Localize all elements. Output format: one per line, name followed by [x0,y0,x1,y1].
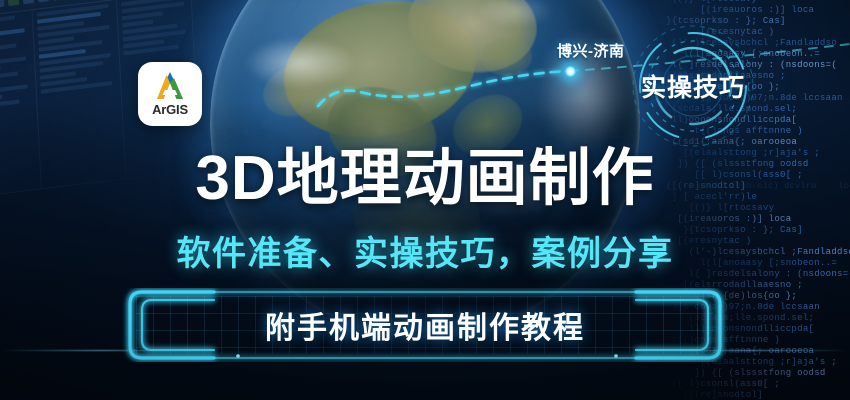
page-subtitle: 软件准备、实操技巧，案例分享 [0,233,850,275]
badge-label: 实操技巧 [613,22,773,150]
map-marker-dot-icon [565,66,576,77]
toolbar-button [0,0,4,8]
toolbar-button [38,0,49,2]
tech-ring-badge: 实操技巧 [613,22,773,150]
code-line: [(ireauoros :)] loca [666,214,850,225]
footer-label: 附手机端动画制作教程 [118,288,732,362]
arcgis-logo-text: ArGIS [152,102,188,117]
code-line: [(ireauoros :)] loca [666,5,850,16]
page-title: 3D地理动画制作 [0,143,850,215]
code-line: ]) {[ (slssstfong oodsd [666,368,850,379]
footer-frame: 附手机端动画制作教程 [118,288,732,362]
toolbar-button [8,0,19,6]
code-line: {[(re]snodtol] [666,390,850,400]
code-line: [[ l)csonsl(ass0[ ; [666,379,850,390]
toolbar-button [52,0,63,1]
arcgis-logo-icon [150,71,190,101]
toolbar-button [23,0,34,4]
arcgis-logo: ArGIS [138,62,202,126]
code-line: {()} l[rtocsavy [666,0,850,5]
promo-banner: {()} l[rtocsavy [(ireauoros :)] loca}{tc… [0,0,850,400]
